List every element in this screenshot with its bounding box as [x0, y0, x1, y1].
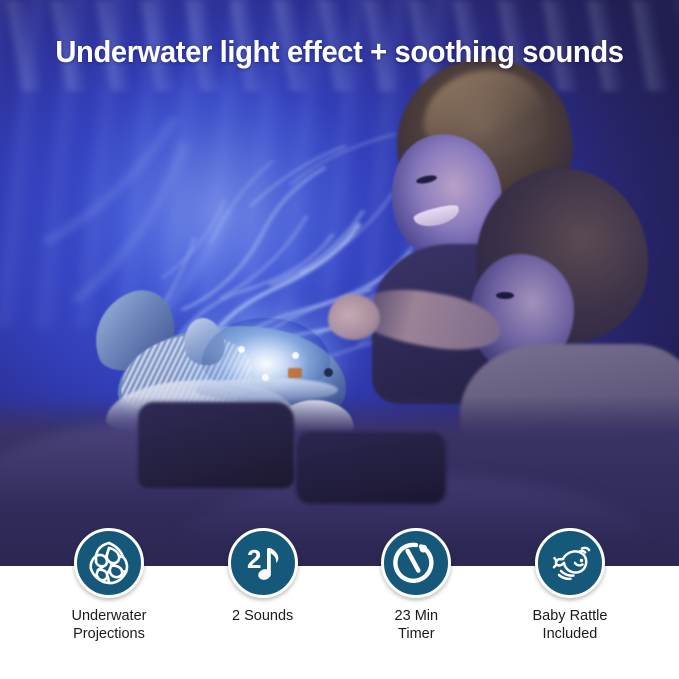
cushion-decor	[138, 402, 294, 488]
feature-label: Underwater Projections	[72, 607, 147, 643]
whale-sparkle-decor	[292, 352, 299, 359]
feature-row: Underwater Projections 2	[0, 528, 679, 679]
feature-badge[interactable]	[535, 528, 605, 598]
music-note-2-icon: 2	[240, 540, 286, 586]
whale-sparkle-decor	[262, 374, 269, 381]
feature-label: 2 Sounds	[232, 607, 293, 625]
underwater-projection-icon	[85, 539, 133, 587]
baby-eye-decor	[496, 292, 514, 299]
whale-rattle-icon	[546, 539, 594, 587]
feature-badge[interactable]: 2	[228, 528, 298, 598]
feature-baby-rattle[interactable]: Baby Rattle Included	[495, 528, 645, 679]
product-feature-banner: Underwater light effect + soothing sound…	[0, 0, 679, 679]
whale-eye-decor	[324, 368, 333, 377]
feature-2-sounds[interactable]: 2 2 Sounds	[188, 528, 338, 679]
feature-label: 23 Min Timer	[395, 607, 439, 643]
feature-badge[interactable]	[381, 528, 451, 598]
cushion-decor	[296, 432, 446, 504]
feature-strip: Underwater Projections 2	[0, 566, 679, 679]
feature-underwater-projections[interactable]: Underwater Projections	[34, 528, 184, 679]
banner-headline: Underwater light effect + soothing sound…	[20, 32, 658, 72]
whale-sparkle-decor	[238, 346, 245, 353]
feature-badge[interactable]	[74, 528, 144, 598]
feature-label: Baby Rattle Included	[532, 607, 607, 643]
lifestyle-photo: Underwater light effect + soothing sound…	[0, 0, 679, 566]
whale-brand-tag-decor	[288, 368, 302, 378]
svg-text:2: 2	[247, 544, 261, 574]
feature-timer[interactable]: 23 Min Timer	[341, 528, 491, 679]
timer-icon	[393, 540, 439, 586]
